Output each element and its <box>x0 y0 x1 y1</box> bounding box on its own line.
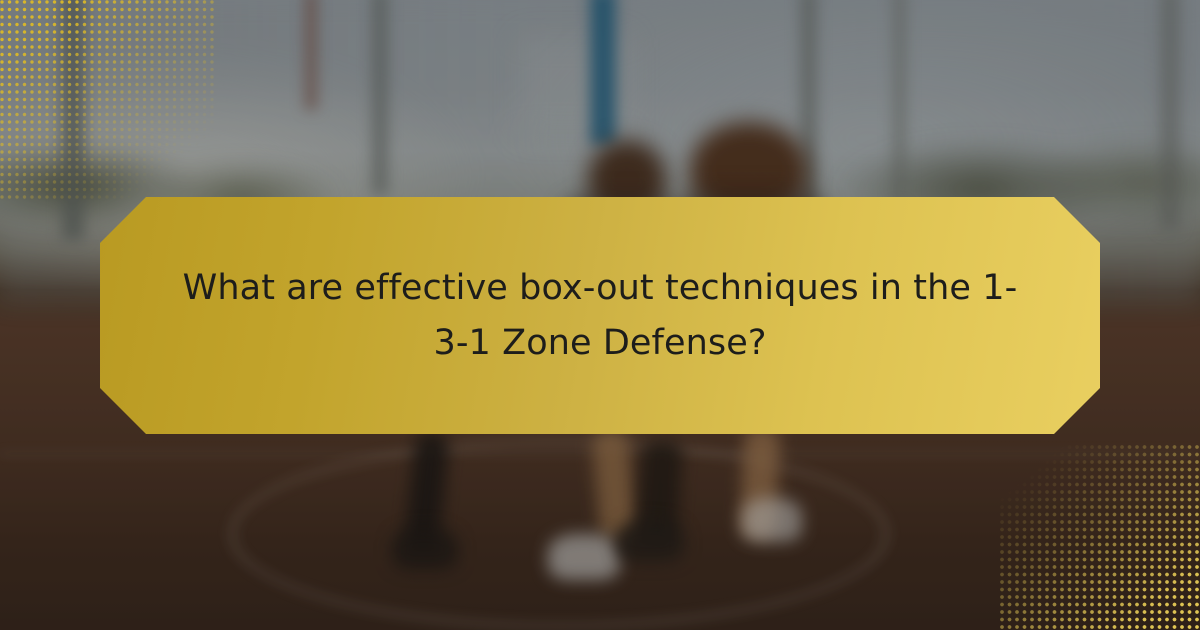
share-card: What are effective box-out techniques in… <box>0 0 1200 630</box>
headline-banner: What are effective box-out techniques in… <box>100 197 1100 434</box>
page-title: What are effective box-out techniques in… <box>100 261 1100 370</box>
